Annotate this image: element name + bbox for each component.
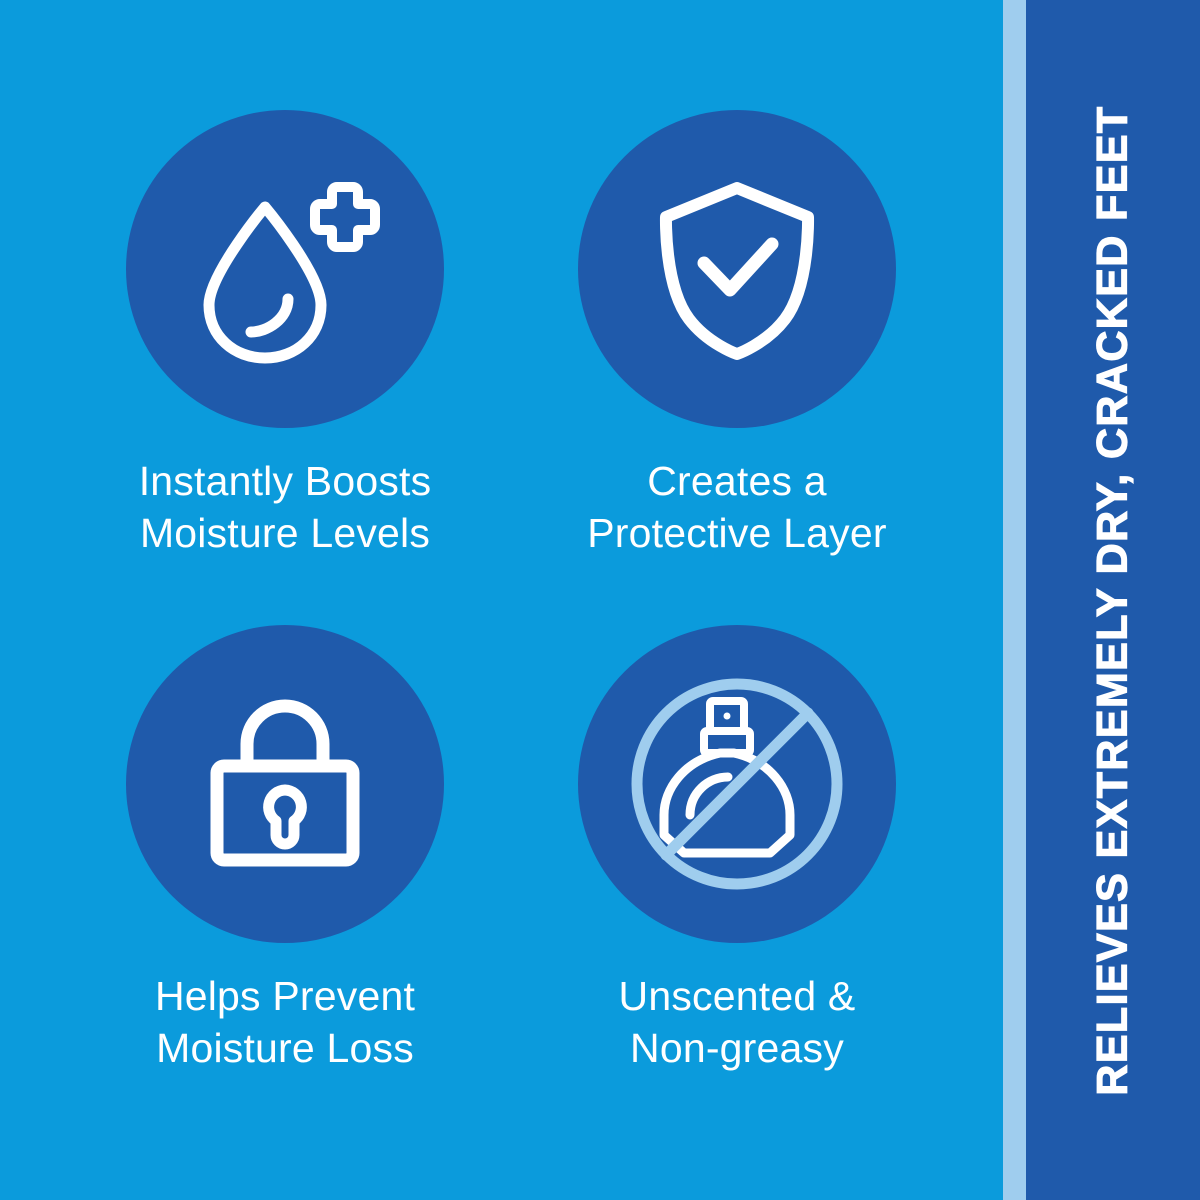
feature-icon-circle <box>578 110 896 428</box>
feature-grid: Instantly Boosts Moisture Levels Creates… <box>0 0 1003 1200</box>
feature-label: Creates a Protective Layer <box>587 456 886 559</box>
feature-card-protective-layer: Creates a Protective Layer <box>507 110 967 559</box>
feature-label: Unscented & Non-greasy <box>619 971 856 1074</box>
feature-card-instantly-boosts-moisture: Instantly Boosts Moisture Levels <box>55 110 515 559</box>
shield-check-icon <box>642 174 832 364</box>
no-fragrance-bottle-icon <box>622 669 852 899</box>
water-droplet-plus-icon <box>185 169 385 369</box>
infographic-canvas: Instantly Boosts Moisture Levels Creates… <box>0 0 1200 1200</box>
feature-label: Instantly Boosts Moisture Levels <box>139 456 432 559</box>
padlock-icon <box>195 694 375 874</box>
accent-stripe <box>1003 0 1026 1200</box>
side-banner-claim-text: RELIEVES EXTREMELY DRY, CRACKED FEET <box>1089 105 1138 1095</box>
feature-icon-circle <box>126 110 444 428</box>
feature-icon-circle <box>126 625 444 943</box>
feature-card-prevents-moisture-loss: Helps Prevent Moisture Loss <box>55 625 515 1074</box>
side-banner-claim: RELIEVES EXTREMELY DRY, CRACKED FEET <box>1026 0 1200 1200</box>
feature-label: Helps Prevent Moisture Loss <box>155 971 415 1074</box>
feature-card-unscented-non-greasy: Unscented & Non-greasy <box>507 625 967 1074</box>
feature-icon-circle <box>578 625 896 943</box>
